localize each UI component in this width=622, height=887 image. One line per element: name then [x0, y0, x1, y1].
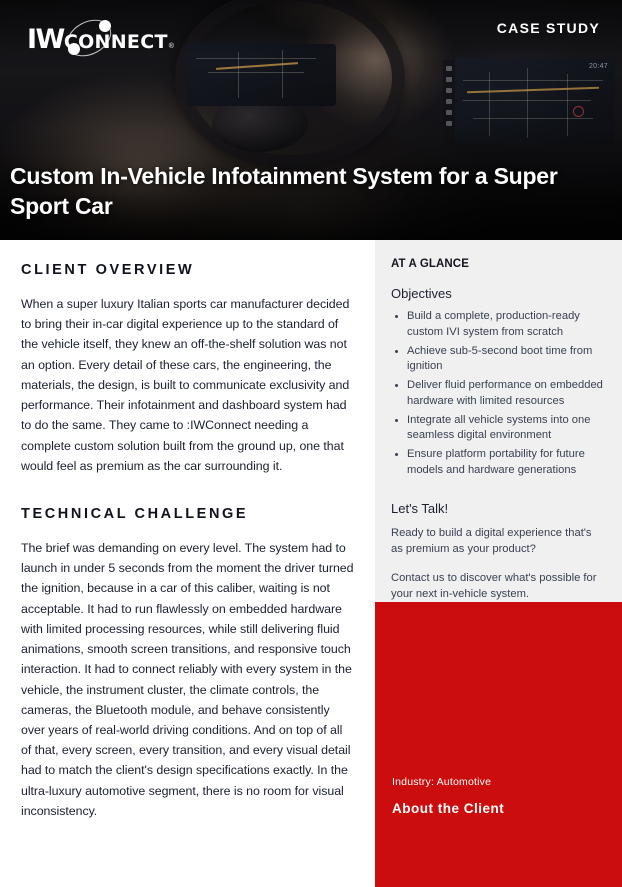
hero-banner: 20:47 IW CONNECT ® CASE	[0, 0, 622, 240]
list-item: Build a complete, production-ready custo…	[394, 309, 606, 341]
objectives-list: Build a complete, production-ready custo…	[394, 309, 606, 479]
lets-talk-paragraph-2: Contact us to discover what's possible f…	[391, 570, 606, 602]
list-item: Deliver fluid performance on embedded ha…	[394, 378, 606, 410]
case-study-page: 20:47 IW CONNECT ® CASE	[0, 0, 622, 887]
list-item: Integrate all vehicle systems into one s…	[394, 413, 606, 445]
iwconnect-logo[interactable]: IW CONNECT ®	[27, 19, 174, 59]
section-heading-client-overview: CLIENT OVERVIEW	[21, 262, 355, 278]
sidebar-content: AT A GLANCE Objectives Build a complete,…	[375, 240, 622, 602]
section-body-technical-challenge: The brief was demanding on every level. …	[21, 538, 355, 821]
main-column: CLIENT OVERVIEW When a super luxury Ital…	[0, 240, 375, 887]
case-study-label: CASE STUDY	[497, 20, 600, 36]
lets-talk-heading: Let's Talk!	[391, 501, 606, 516]
sidebar: AT A GLANCE Objectives Build a complete,…	[375, 240, 622, 887]
sidebar-title-at-a-glance: AT A GLANCE	[391, 258, 606, 270]
client-industry-label: Industry: Automotive	[392, 776, 491, 788]
about-client-block: Industry: Automotive About the Client	[375, 602, 622, 887]
about-client-heading: About the Client	[392, 801, 504, 816]
logo-text-iw: IW	[27, 26, 64, 53]
list-item: Ensure platform portability for future m…	[394, 447, 606, 479]
section-body-client-overview: When a super luxury Italian sports car m…	[21, 294, 355, 476]
lets-talk-paragraph-1: Ready to build a digital experience that…	[391, 525, 606, 557]
content-area: CLIENT OVERVIEW When a super luxury Ital…	[0, 240, 622, 887]
logo-trademark-symbol: ®	[169, 43, 174, 50]
logo-text-connect: CONNECT	[64, 33, 168, 52]
section-heading-technical-challenge: TECHNICAL CHALLENGE	[21, 506, 355, 522]
sidebar-objectives-label: Objectives	[391, 286, 606, 301]
page-title: Custom In-Vehicle Infotainment System fo…	[10, 162, 614, 222]
list-item: Achieve sub-5-second boot time from igni…	[394, 344, 606, 376]
